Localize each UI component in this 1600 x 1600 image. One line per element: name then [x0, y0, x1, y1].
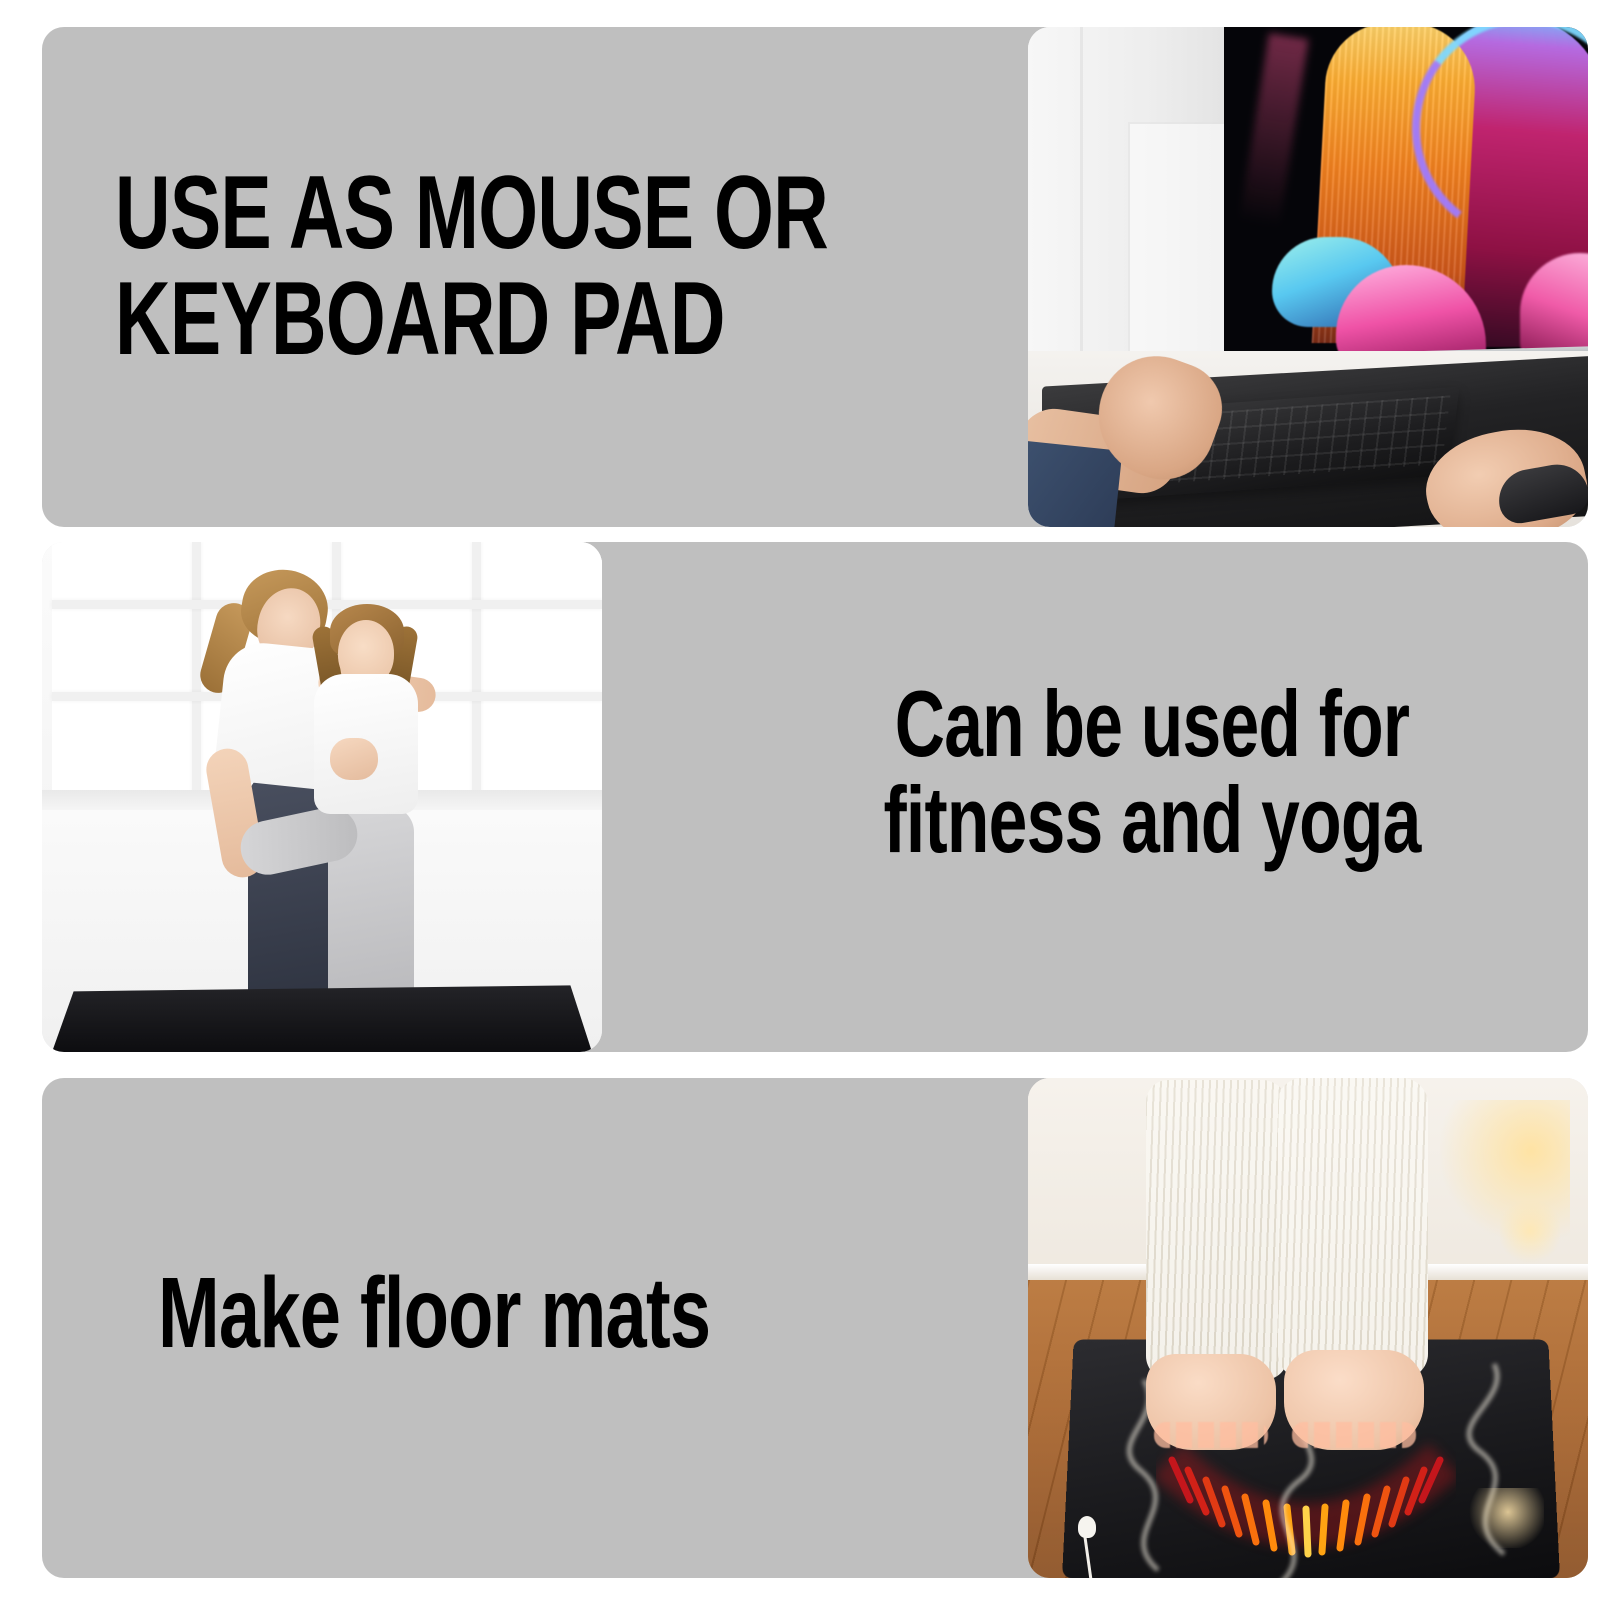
imac-screen: [1224, 27, 1588, 365]
power-plug: [1078, 1516, 1096, 1538]
bare-feet-on-heated-floor-mat-image: [1028, 1078, 1588, 1578]
desk-mat-with-keyboard-and-imac-image: [1028, 27, 1588, 527]
panel-1-headline: USE AS MOUSE OR KEYBOARD PAD: [115, 160, 828, 372]
left-pant-leg: [1146, 1080, 1288, 1380]
window-mullion-vertical: [472, 542, 481, 792]
left-toes: [1154, 1422, 1268, 1448]
child-prayer-hands: [330, 738, 378, 780]
denim-sleeve: [1028, 439, 1122, 527]
sparkle-glint: [1454, 1488, 1544, 1548]
imac-monitor: [1224, 27, 1588, 365]
panel-3-headline: Make floor mats: [158, 1262, 710, 1364]
right-pant-leg: [1278, 1078, 1428, 1378]
right-toes: [1292, 1422, 1416, 1448]
left-bare-foot: [1146, 1354, 1276, 1450]
warm-string-lights: [1440, 1100, 1570, 1270]
mother-and-daughter-yoga-image: [42, 542, 602, 1052]
wallpaper-streak: [1239, 33, 1308, 227]
infographic-board: USE AS MOUSE OR KEYBOARD PAD: [0, 0, 1600, 1600]
window-mullion-vertical: [192, 542, 201, 792]
panel-2-headline: Can be used for fitness and yoga: [849, 676, 1456, 868]
right-bare-foot: [1284, 1350, 1424, 1450]
